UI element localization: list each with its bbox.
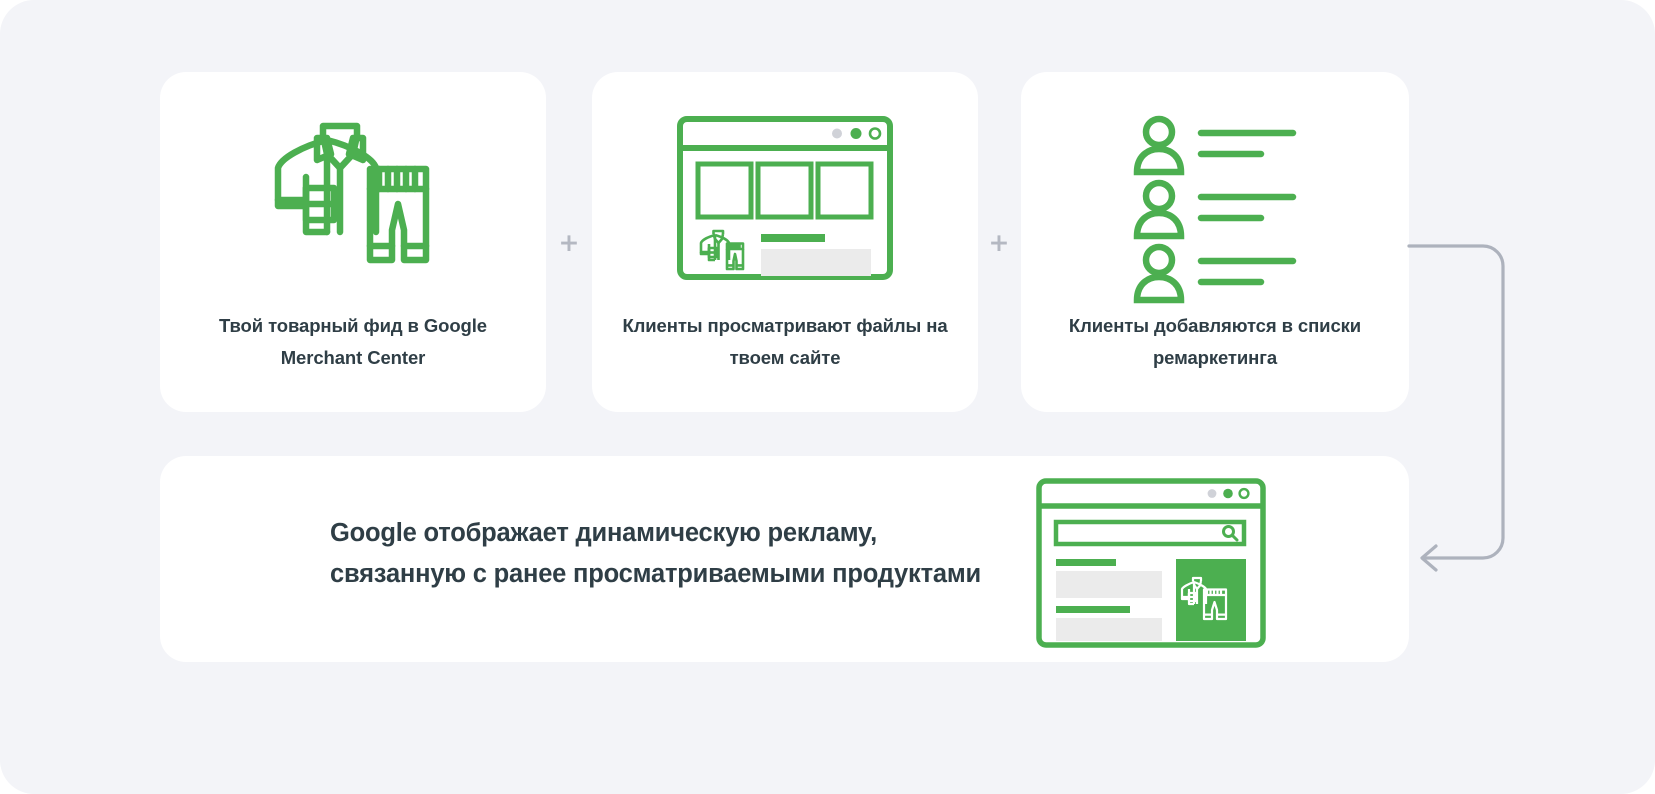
people-list-icon (1021, 108, 1409, 288)
browser-search-results-icon (1036, 478, 1266, 648)
browser-product-grid-icon (592, 108, 978, 288)
step-card-feed-caption: Твой товарный фид в Google Merchant Cent… (182, 310, 524, 374)
loop-back-arrow-icon (1409, 228, 1537, 580)
shirt-and-pants-icon (160, 108, 546, 288)
result-headline-line-1: Google отображает динамическую рекламу, (330, 513, 1030, 554)
step-card-lists-caption: Клиенты добавляются в списки ремаркетинг… (1043, 310, 1387, 374)
result-card-dynamic-ads: Google отображает динамическую рекламу, … (160, 456, 1409, 662)
result-headline-line-2: связанную с ранее просматриваемыми проду… (330, 554, 1030, 595)
step-card-feed: Твой товарный фид в Google Merchant Cent… (160, 72, 546, 412)
plus-separator-2: + (988, 232, 1010, 254)
infographic-root: Твой товарный фид в Google Merchant Cent… (0, 0, 1655, 794)
result-headline: Google отображает динамическую рекламу, … (330, 513, 1030, 596)
step-card-lists: Клиенты добавляются в списки ремаркетинг… (1021, 72, 1409, 412)
step-card-views: Клиенты просматривают файлы на твоем сай… (592, 72, 978, 412)
plus-separator-1: + (558, 232, 580, 254)
step-card-views-caption: Клиенты просматривают файлы на твоем сай… (614, 310, 956, 374)
